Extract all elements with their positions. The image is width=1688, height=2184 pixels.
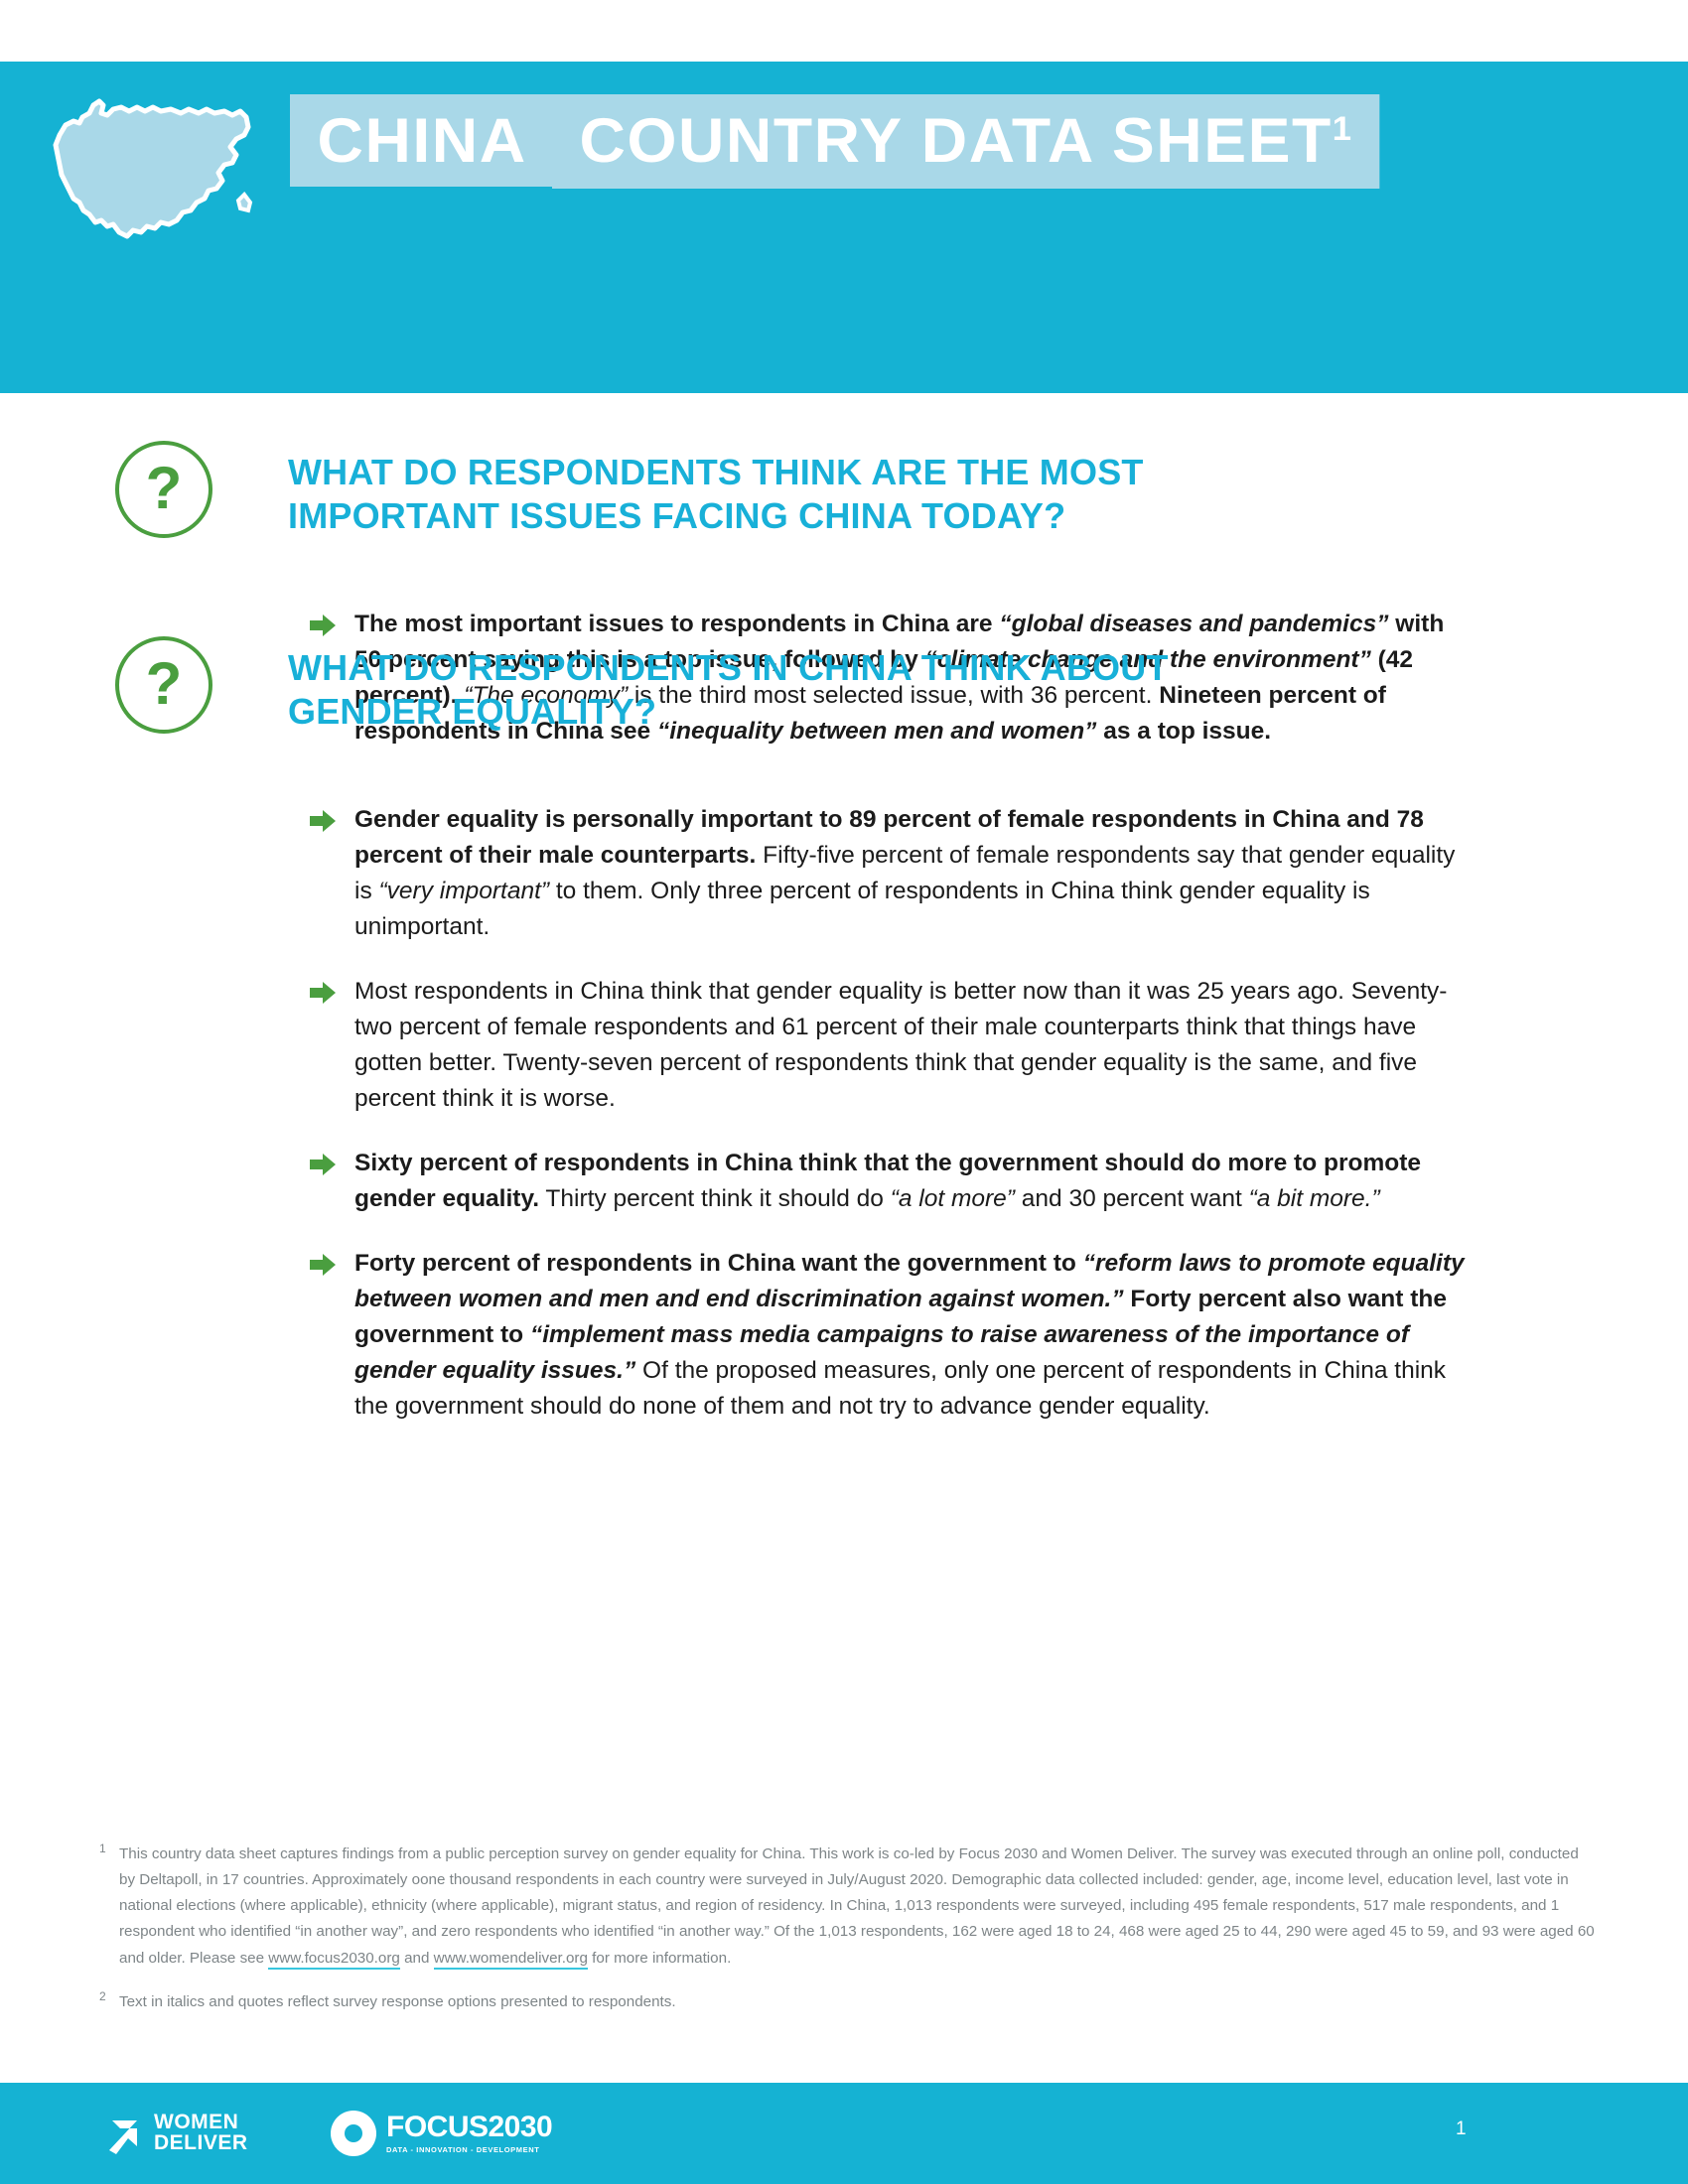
focus2030-logo: FOCUS2030 DATA - INNOVATION - DEVELOPMEN… bbox=[331, 2111, 552, 2156]
bullet-run: Most respondents in China think that gen… bbox=[354, 978, 1447, 1112]
question-mark-glyph: ? bbox=[119, 454, 209, 522]
section-heading-line: WHAT DO RESPONDENTS THINK ARE THE MOST bbox=[288, 451, 1400, 494]
focus2030-link[interactable]: www.focus2030.org bbox=[268, 1950, 400, 1970]
footnote-text: and bbox=[400, 1950, 434, 1967]
focus2030-name: FOCUS2030 bbox=[386, 2113, 552, 2142]
footnotes: 1This country data sheet captures findin… bbox=[99, 1842, 1599, 2033]
green-arrow-bullet-icon bbox=[308, 808, 338, 834]
section-heading-line: WHAT DO RESPONDENTS IN CHINA THINK ABOUT bbox=[288, 646, 1400, 690]
bullet-run: “very important” bbox=[379, 878, 550, 904]
wd-line-1: WOMEN bbox=[154, 2113, 248, 2133]
list-item: Most respondents in China think that gen… bbox=[308, 974, 1470, 1117]
bullet-run: “a lot more” bbox=[891, 1185, 1015, 1212]
page-title-country: CHINA bbox=[290, 94, 553, 187]
focus-ring-icon bbox=[331, 2111, 376, 2156]
bullet-list: Gender equality is personally important … bbox=[308, 802, 1470, 1425]
bullet-run: Forty percent of respondents in China wa… bbox=[354, 1250, 1083, 1277]
page-title-superscript: 1 bbox=[1333, 110, 1353, 148]
footnote-text: for more information. bbox=[588, 1950, 731, 1967]
women-deliver-logo: WOMEN DELIVER bbox=[97, 2111, 248, 2156]
china-map-icon bbox=[50, 77, 258, 251]
list-item: Gender equality is personally important … bbox=[308, 802, 1470, 945]
page-title-subtitle: COUNTRY DATA SHEET1 bbox=[552, 94, 1379, 189]
list-item: Sixty percent of respondents in China th… bbox=[308, 1146, 1470, 1217]
question-mark-glyph: ? bbox=[119, 649, 209, 718]
bullet-run: “a bit more.” bbox=[1249, 1185, 1380, 1212]
footer-band bbox=[0, 2083, 1688, 2184]
womendeliver-link[interactable]: www.womendeliver.org bbox=[434, 1950, 588, 1970]
bullet-run: and 30 percent want bbox=[1015, 1185, 1249, 1212]
header-title-block: CHINA COUNTRY DATA SHEET1 bbox=[290, 94, 1481, 203]
wd-line-2: DELIVER bbox=[154, 2133, 248, 2154]
footnote-marker: 1 bbox=[99, 1839, 106, 1859]
focus2030-wordmark: FOCUS2030 DATA - INNOVATION - DEVELOPMEN… bbox=[386, 2113, 552, 2154]
footnote-1: 1This country data sheet captures findin… bbox=[99, 1842, 1599, 1972]
footnote-marker: 2 bbox=[99, 1986, 106, 2007]
footnote-text: Text in italics and quotes reflect surve… bbox=[119, 1993, 676, 2010]
green-arrow-bullet-icon bbox=[308, 1152, 338, 1177]
section-heading: WHAT DO RESPONDENTS IN CHINA THINK ABOUT… bbox=[288, 646, 1400, 733]
footnote-text: This country data sheet captures finding… bbox=[119, 1845, 1595, 1967]
focus2030-tagline: DATA - INNOVATION - DEVELOPMENT bbox=[386, 2145, 552, 2154]
bullet-run: “global diseases and pandemics” bbox=[999, 611, 1388, 637]
arrow-up-right-icon bbox=[97, 2111, 143, 2156]
footnote-2: 2Text in italics and quotes reflect surv… bbox=[99, 1989, 1599, 2015]
green-arrow-bullet-icon bbox=[308, 980, 338, 1006]
green-arrow-bullet-icon bbox=[308, 613, 338, 638]
bullet-run: Thirty percent think it should do bbox=[539, 1185, 891, 1212]
list-item: Forty percent of respondents in China wa… bbox=[308, 1246, 1470, 1425]
page-title-subtitle-text: COUNTRY DATA SHEET bbox=[580, 106, 1333, 176]
question-mark-icon: ? bbox=[115, 636, 212, 734]
bullet-run: The most important issues to respondents… bbox=[354, 611, 999, 637]
green-arrow-bullet-icon bbox=[308, 1252, 338, 1278]
page-number: 1 bbox=[1456, 2118, 1467, 2140]
section-heading-line: IMPORTANT ISSUES FACING CHINA TODAY? bbox=[288, 494, 1400, 538]
women-deliver-wordmark: WOMEN DELIVER bbox=[154, 2113, 248, 2154]
section-heading: WHAT DO RESPONDENTS THINK ARE THE MOST I… bbox=[288, 451, 1400, 537]
question-mark-icon: ? bbox=[115, 441, 212, 538]
section-heading-line: GENDER EQUALITY? bbox=[288, 690, 1400, 734]
